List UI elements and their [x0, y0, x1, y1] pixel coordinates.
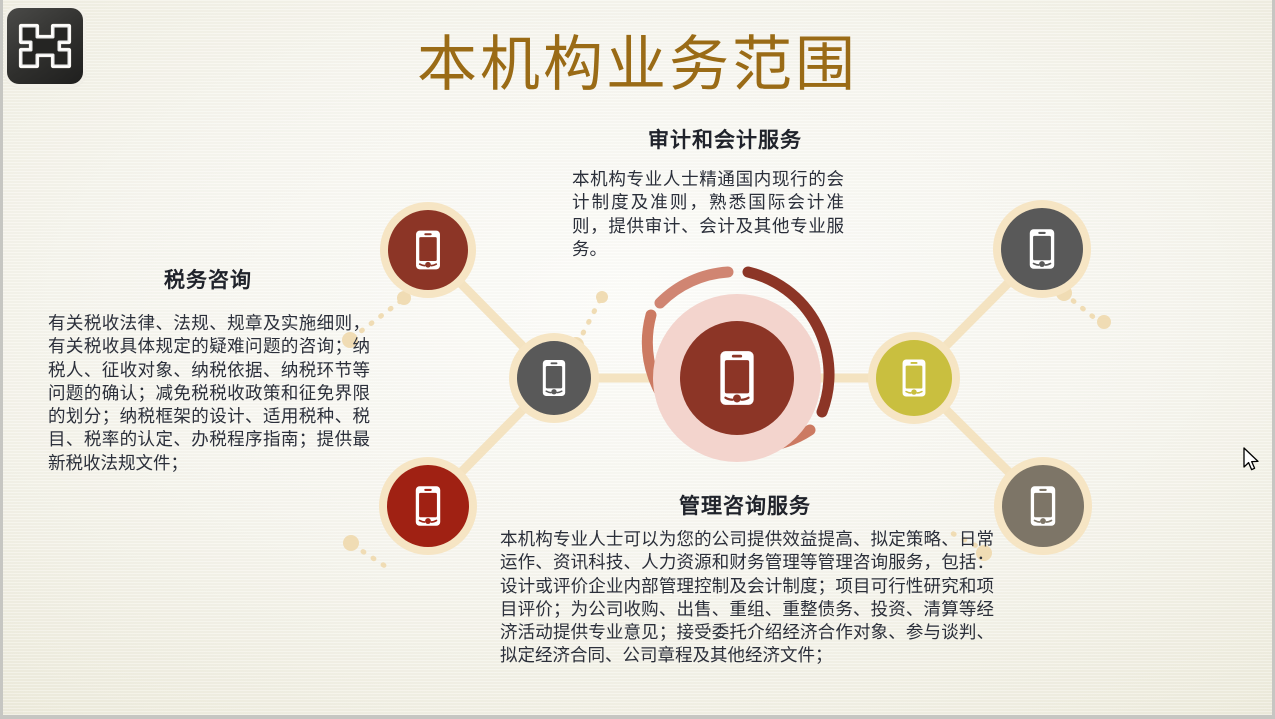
node-top-right[interactable] [993, 200, 1091, 298]
node-top-left[interactable] [380, 202, 476, 298]
viewer-frame-left [0, 0, 3, 719]
section-heading-tax: 税务咨询 [48, 264, 368, 294]
node-mid-right[interactable] [868, 332, 960, 424]
smartphone-icon [543, 360, 565, 396]
viewer-frame-bottom [0, 715, 1275, 719]
node-bottom-right[interactable] [994, 457, 1092, 555]
presentation-slide: 本机构业务范围 审计和会计服务 本机构专业人士精通国内现行的会计制度及准则，熟悉… [0, 0, 1275, 719]
center-node[interactable] [647, 272, 829, 462]
smartphone-icon [1031, 486, 1055, 525]
connector-lines [428, 249, 1043, 506]
hub-core [680, 321, 794, 435]
section-heading-audit: 审计和会计服务 [565, 124, 885, 154]
mouse-cursor-arrow-icon [1243, 447, 1261, 473]
page-title: 本机构业务范围 [0, 16, 1275, 103]
hub-inner-ring [653, 294, 821, 462]
smartphone-icon [1030, 229, 1054, 268]
smartphone-icon [903, 360, 926, 397]
section-body-audit: 本机构专业人士精通国内现行的会计制度及准则，熟悉国际会计准则，提供审计、会计及其… [572, 168, 844, 261]
node-bottom-left[interactable] [379, 457, 477, 555]
smartphone-icon [416, 486, 440, 525]
smartphone-icon [416, 231, 440, 270]
section-heading-management: 管理咨询服务 [490, 490, 1000, 520]
hub-arc-ring [647, 272, 829, 447]
smartphone-icon [720, 351, 753, 405]
section-body-management: 本机构专业人士可以为您的公司提供效益提高、拟定策略、日常运作、资讯科技、人力资源… [500, 528, 994, 668]
node-mid-left[interactable] [509, 333, 599, 423]
section-body-tax: 有关税收法律、法规、规章及实施细则，有关税收具体规定的疑难问题的咨询；纳税人、征… [48, 312, 370, 475]
